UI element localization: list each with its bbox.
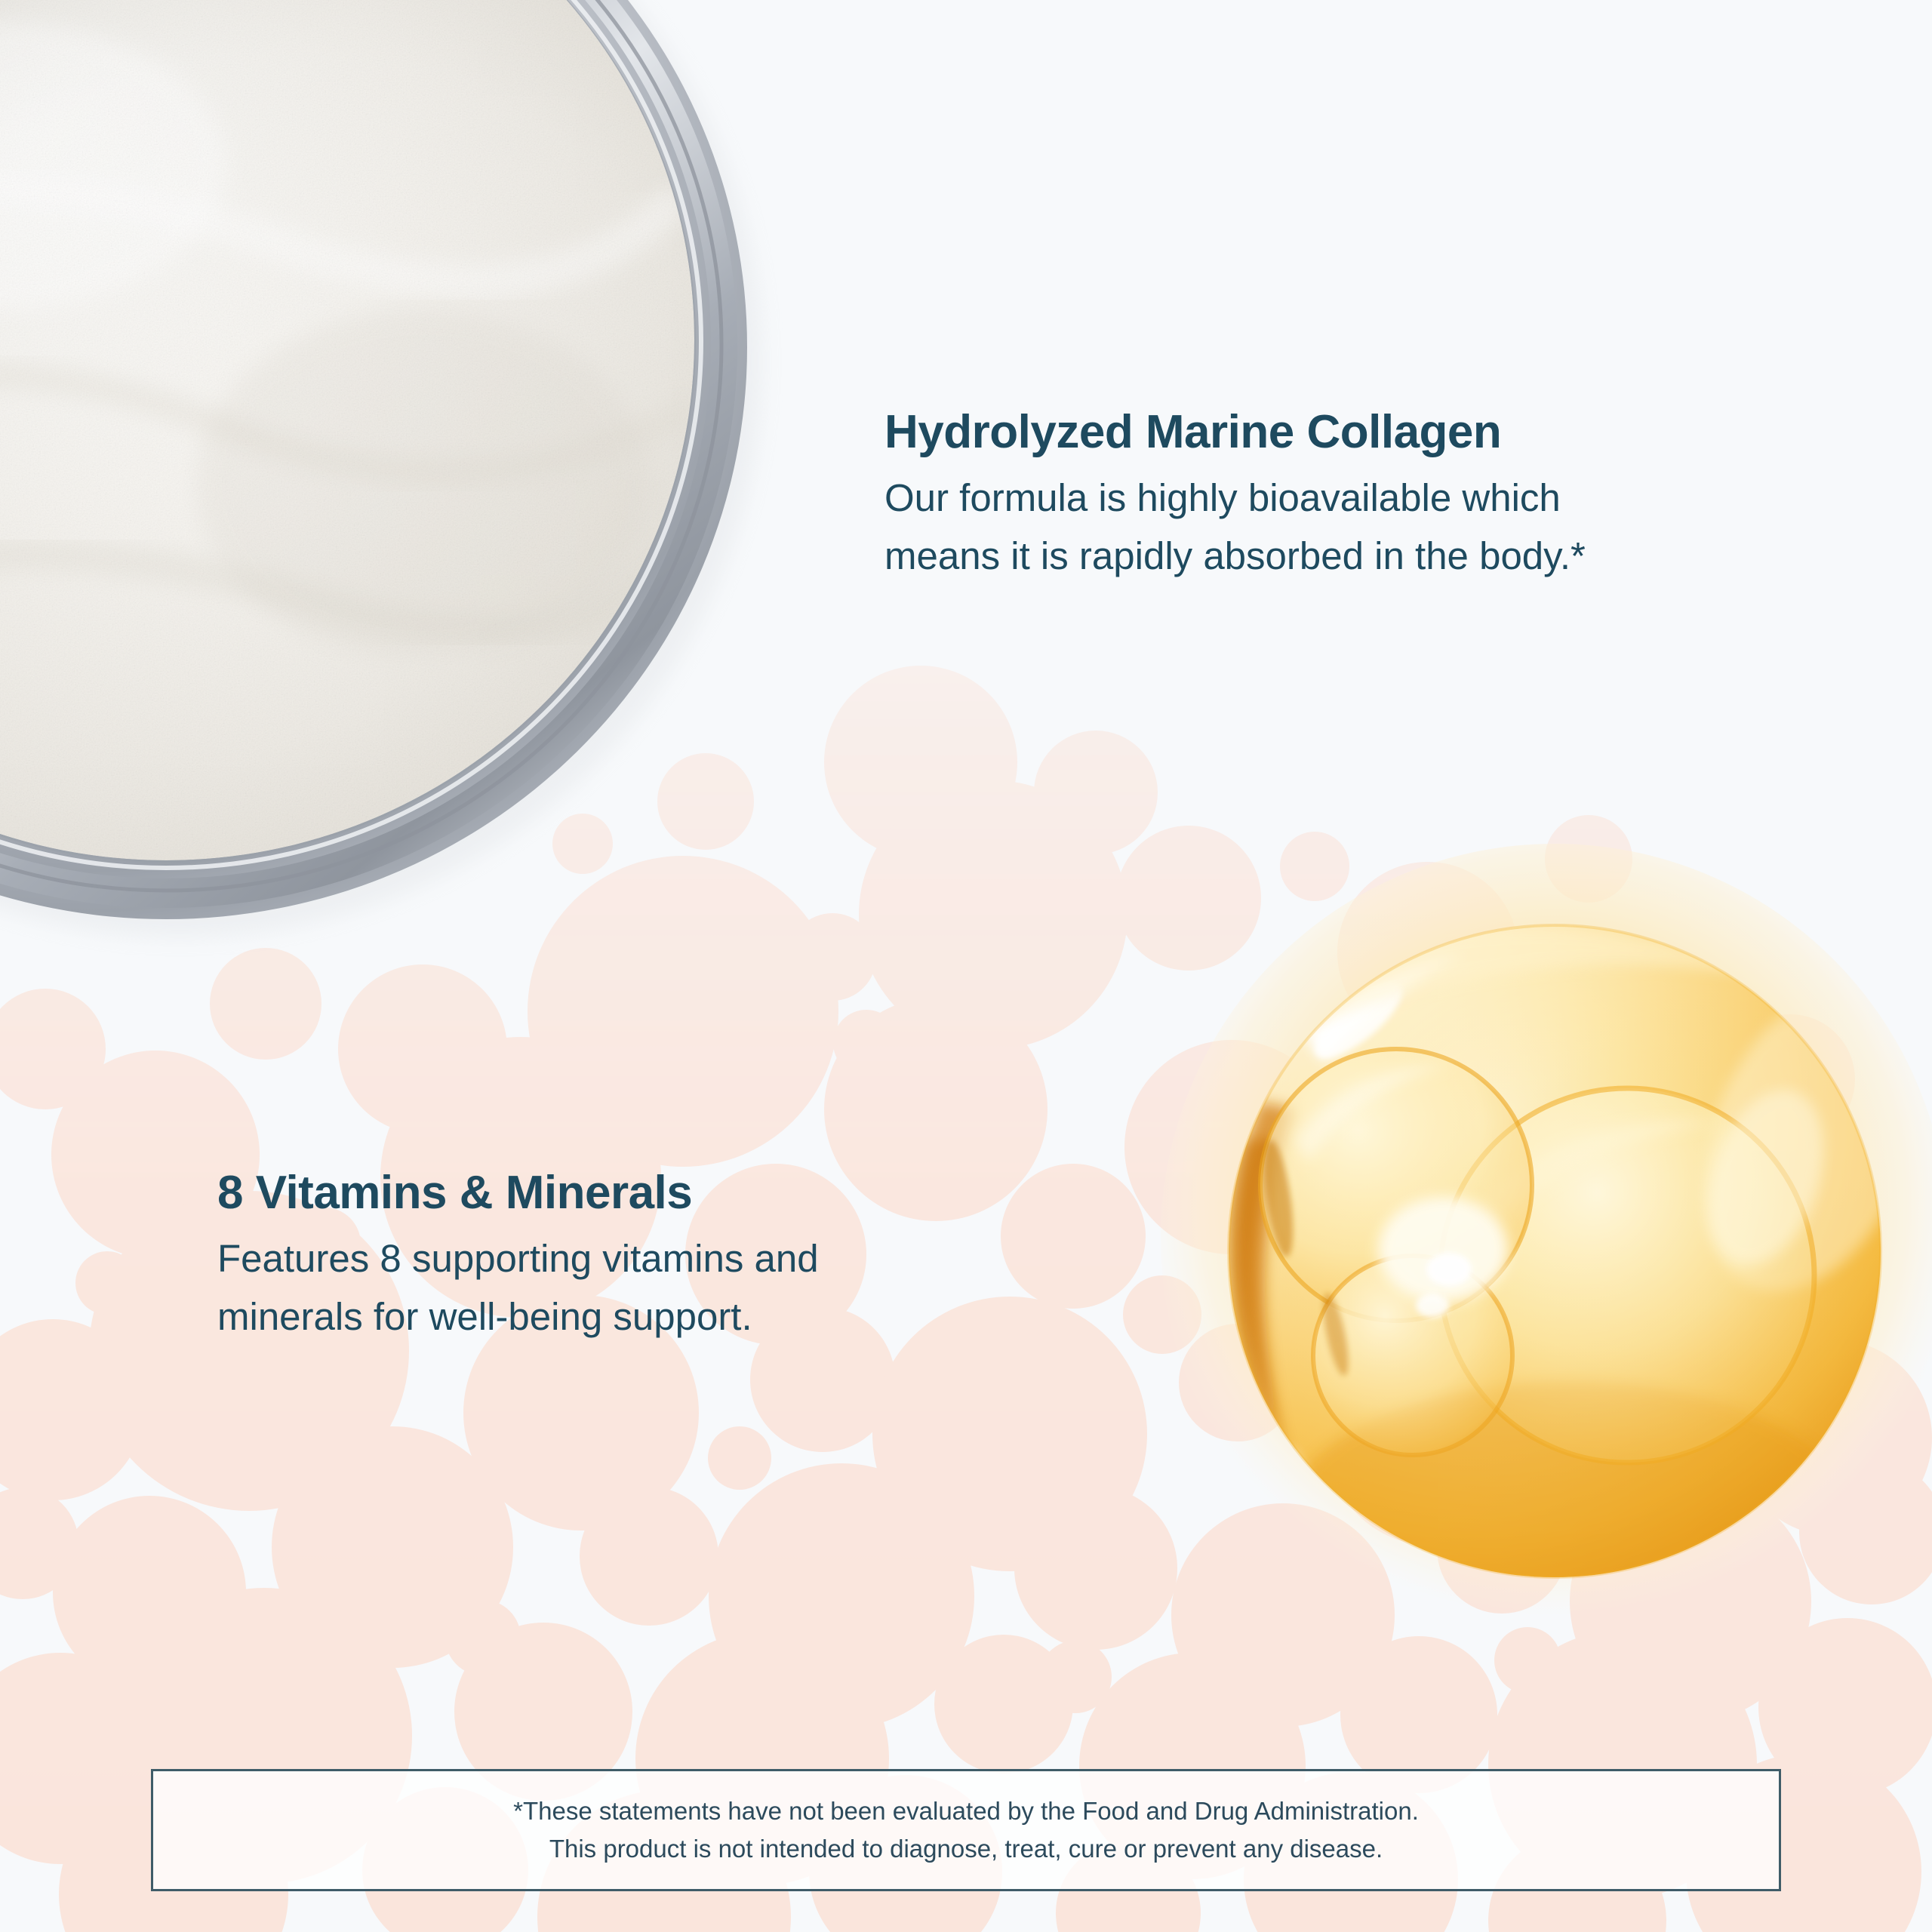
feature-2-body: Features 8 supporting vitamins and miner… xyxy=(217,1229,972,1346)
feature-1-heading: Hydrolyzed Marine Collagen xyxy=(884,408,1775,458)
collagen-powder-bowl-image xyxy=(0,0,800,966)
disclaimer-line-1: *These statements have not been evaluate… xyxy=(513,1792,1419,1830)
disclaimer-line-2: This product is not intended to diagnose… xyxy=(549,1830,1383,1868)
feature-2-heading: 8 Vitamins & Minerals xyxy=(217,1168,972,1219)
product-benefits-graphic: Hydrolyzed Marine Collagen Our formula i… xyxy=(0,0,1932,1932)
feature-1-body-line-1: Our formula is highly bioavailable which xyxy=(884,476,1561,519)
feature-vitamins-and-minerals: 8 Vitamins & Minerals Features 8 support… xyxy=(217,1168,972,1346)
feature-2-body-line-1: Features 8 supporting vitamins and xyxy=(217,1237,819,1280)
background-circle-pattern xyxy=(0,0,1932,1932)
fda-disclaimer-box: *These statements have not been evaluate… xyxy=(151,1769,1781,1891)
feature-1-body: Our formula is highly bioavailable which… xyxy=(884,469,1775,586)
feature-2-body-line-2: minerals for well-being support. xyxy=(217,1295,752,1338)
feature-1-body-line-2: means it is rapidly absorbed in the body… xyxy=(884,534,1586,577)
feature-hydrolyzed-marine-collagen: Hydrolyzed Marine Collagen Our formula i… xyxy=(884,408,1775,586)
golden-oil-droplet-image xyxy=(1147,785,1932,1728)
